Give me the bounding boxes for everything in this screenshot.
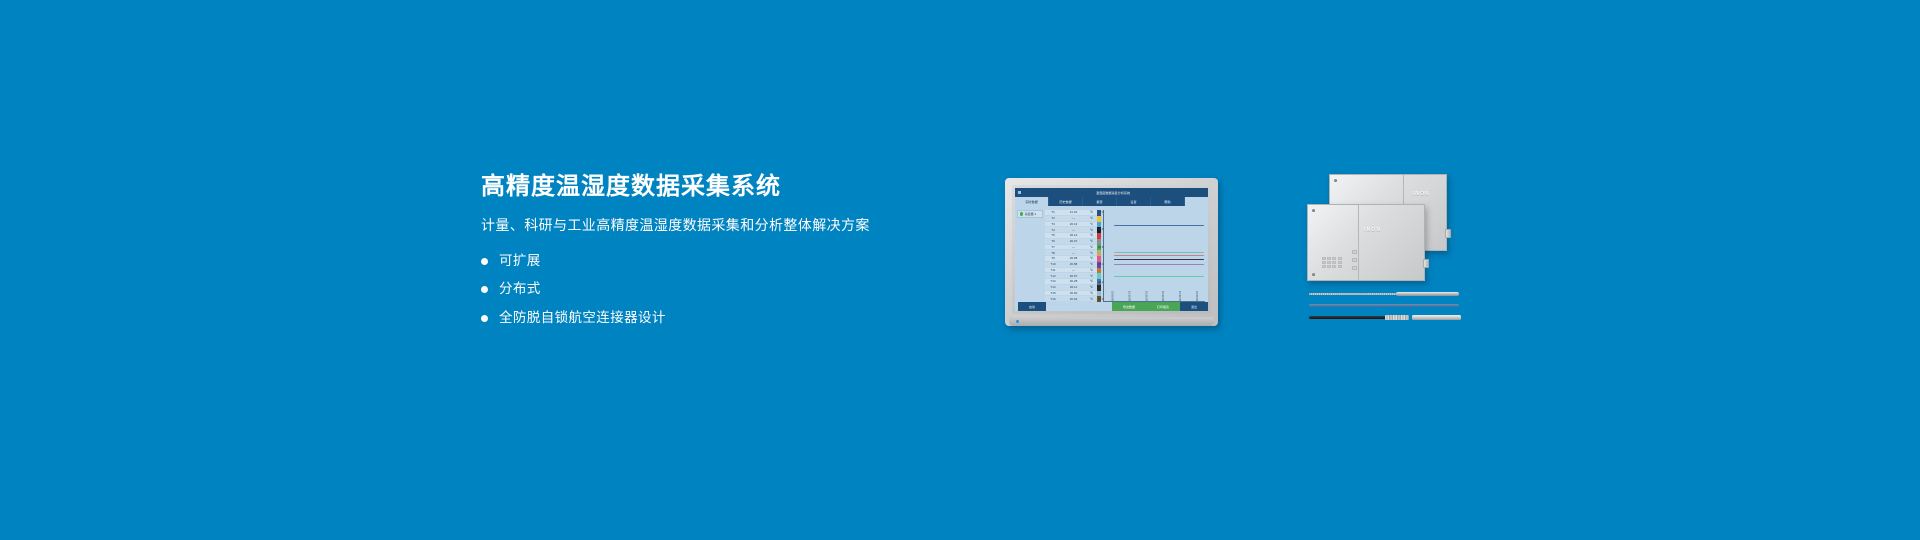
list-item: 全防脱自锁航空连接器设计 — [481, 309, 901, 328]
probe-knurled-connector — [1385, 315, 1409, 320]
screen-footer: 启动 导出数据 打印报表 退出 — [1015, 302, 1208, 311]
exit-button[interactable]: 退出 — [1180, 302, 1208, 311]
start-button[interactable]: 启动 — [1018, 302, 1046, 311]
channel-name: T5 — [1045, 233, 1061, 237]
keypad-cell — [1332, 257, 1336, 260]
status-online-icon — [1020, 212, 1024, 216]
probe-black-cable — [1309, 316, 1388, 319]
channel-value: 26.94 — [1061, 297, 1086, 301]
tab-help[interactable]: 帮助 — [1151, 197, 1185, 206]
tree-node-collector[interactable]: 采集器-1 — [1017, 210, 1043, 218]
channel-name: T3 — [1045, 222, 1061, 226]
terminal-keypad-grid — [1322, 257, 1342, 268]
terminal-block — [1352, 250, 1357, 255]
channel-value: 26.90 — [1061, 291, 1086, 295]
channel-value: 25.97 — [1061, 274, 1086, 278]
tab-history-data[interactable]: 历史数据 — [1049, 197, 1083, 206]
channel-value: --- — [1061, 216, 1086, 220]
x-tick-label: 10:40:00 — [1178, 291, 1181, 301]
terminal-block — [1352, 258, 1357, 263]
keypad-cell — [1332, 261, 1336, 264]
hardware-device-group: INON INON — [1307, 174, 1467, 329]
keypad-cell — [1338, 261, 1342, 264]
screen-body: 采集器-1 T121.01℃T2---℃T326.19℃T4---℃T526.1… — [1015, 206, 1208, 302]
probe-sensor-barrel — [1412, 315, 1461, 320]
channel-value: --- — [1061, 268, 1086, 272]
keypad-cell — [1332, 265, 1336, 268]
tab-label: 实时数据 — [1025, 199, 1037, 204]
page-subtitle: 计量、科研与工业高精度温湿度数据采集和分析整体解决方案 — [481, 216, 901, 236]
channel-name: T6 — [1045, 239, 1061, 243]
trend-chart: 27.026.826.626.426.226.0 10:00:0010:10:0… — [1103, 210, 1206, 302]
banner-text-block: 高精度温湿度数据采集系统 计量、科研与工业高精度温湿度数据采集和分析整体解决方案… — [481, 172, 901, 328]
tab-label: 报表 — [1096, 199, 1102, 204]
channel-name: T9 — [1045, 256, 1061, 260]
terminal-block — [1352, 266, 1357, 271]
channel-name: T12 — [1045, 274, 1061, 278]
brand-label: INON — [1364, 227, 1381, 233]
screw-icon — [1334, 179, 1337, 182]
list-item: 分布式 — [481, 280, 901, 299]
monitor-base — [1009, 317, 1214, 326]
product-banner: 高精度温湿度数据采集系统 计量、科研与工业高精度温湿度数据采集和分析整体解决方案… — [0, 0, 1920, 540]
keypad-cell — [1327, 261, 1331, 264]
feature-list: 可扩展 分布式 全防脱自锁航空连接器设计 — [481, 252, 901, 329]
tree-node-label: 采集器-1 — [1025, 212, 1037, 216]
monitor-bezel: 温湿度数据采集分析系统 实时数据 历史数据 报表 设置 — [1012, 185, 1211, 314]
channel-name: T14 — [1045, 285, 1061, 289]
connector-port — [1423, 259, 1429, 268]
power-led-icon — [1016, 320, 1019, 323]
chart-x-axis: 10:00:0010:10:0010:20:0010:30:0010:40:00… — [1104, 291, 1206, 301]
probe-blue-cable — [1309, 304, 1459, 307]
channel-name: T8 — [1045, 251, 1061, 255]
trend-line-T6 — [1114, 259, 1204, 260]
trend-line-T13 — [1114, 276, 1204, 277]
keypad-cell — [1322, 261, 1326, 264]
bullet-icon — [481, 286, 488, 293]
channel-value: 26.28 — [1061, 279, 1086, 283]
screen-titlebar: 温湿度数据采集分析系统 — [1015, 188, 1208, 197]
braided-steel-probe — [1309, 292, 1459, 296]
black-cable-connector-probe — [1309, 315, 1461, 320]
tab-settings[interactable]: 设置 — [1117, 197, 1151, 206]
channel-name: T16 — [1045, 297, 1061, 301]
channel-value: 21.01 — [1061, 210, 1086, 214]
x-tick-label: 10:30:00 — [1161, 291, 1164, 301]
channel-value: --- — [1061, 251, 1086, 255]
trend-line-T9 — [1114, 264, 1204, 265]
trend-line-T1 — [1114, 225, 1204, 226]
trend-line-T3 — [1114, 252, 1204, 253]
channel-value: --- — [1061, 228, 1086, 232]
tabbar-filler — [1185, 197, 1208, 206]
channel-value: 26.88 — [1061, 262, 1086, 266]
connector-port — [1445, 229, 1451, 238]
monitor-screen: 温湿度数据采集分析系统 实时数据 历史数据 报表 设置 — [1015, 188, 1208, 311]
channel-name: T7 — [1045, 245, 1061, 249]
brand-label: INON — [1413, 191, 1430, 197]
channel-name: T4 — [1045, 228, 1061, 232]
channel-value: 26.98 — [1061, 256, 1086, 260]
tab-label: 历史数据 — [1059, 199, 1071, 204]
probe-steel-tip — [1396, 292, 1459, 296]
list-item: 可扩展 — [481, 252, 901, 271]
monitor-product-image: 温湿度数据采集分析系统 实时数据 历史数据 报表 设置 — [1005, 178, 1218, 326]
tab-label: 帮助 — [1164, 199, 1170, 204]
x-tick-label: 10:00:00 — [1110, 291, 1113, 301]
device-tree-sidebar: 采集器-1 — [1015, 206, 1045, 302]
channel-name: T13 — [1045, 279, 1061, 283]
tab-report[interactable]: 报表 — [1083, 197, 1117, 206]
keypad-cell — [1322, 265, 1326, 268]
chart-y-axis: 27.026.826.626.426.226.0 — [1093, 210, 1104, 301]
screw-icon — [1312, 209, 1315, 212]
channel-name: T1 — [1045, 210, 1061, 214]
channel-value: --- — [1061, 245, 1086, 249]
channel-name: T15 — [1045, 291, 1061, 295]
screen-app-title: 温湿度数据采集分析系统 — [1021, 190, 1205, 195]
channel-value: 26.07 — [1061, 239, 1086, 243]
keypad-cell — [1322, 257, 1326, 260]
keypad-cell — [1338, 265, 1342, 268]
button-label: 导出数据 — [1123, 305, 1135, 309]
channel-name: T11 — [1045, 268, 1061, 272]
tab-realtime-data[interactable]: 实时数据 — [1015, 197, 1049, 206]
channel-value: 26.19 — [1061, 222, 1086, 226]
keypad-cell — [1327, 257, 1331, 260]
print-report-button[interactable]: 打印报表 — [1146, 302, 1180, 311]
panel-seam — [1358, 205, 1359, 280]
button-label: 启动 — [1029, 305, 1035, 309]
data-logger-enclosure-front: INON — [1307, 204, 1425, 281]
bullet-icon — [481, 315, 488, 322]
channel-name: T2 — [1045, 216, 1061, 220]
x-tick-label: 10:10:00 — [1127, 291, 1130, 301]
feature-label: 可扩展 — [499, 252, 541, 271]
keypad-cell — [1327, 265, 1331, 268]
chart-plot-area — [1104, 210, 1206, 291]
channel-table: T121.01℃T2---℃T326.19℃T4---℃T526.12℃T626… — [1045, 206, 1097, 302]
channel-value: 26.11 — [1061, 285, 1086, 289]
blue-cable-probe — [1309, 304, 1459, 307]
page-title: 高精度温湿度数据采集系统 — [481, 172, 901, 202]
footer-spacer — [1046, 302, 1112, 311]
feature-label: 全防脱自锁航空连接器设计 — [499, 309, 666, 328]
trend-line-T5 — [1114, 255, 1204, 256]
screen-tabbar: 实时数据 历史数据 报表 设置 帮助 — [1015, 197, 1208, 206]
x-tick-label: 10:20:00 — [1144, 291, 1147, 301]
button-label: 打印报表 — [1157, 305, 1169, 309]
x-tick-label: 10:50:00 — [1195, 291, 1198, 301]
feature-label: 分布式 — [499, 280, 541, 299]
button-label: 退出 — [1191, 305, 1197, 309]
export-data-button[interactable]: 导出数据 — [1112, 302, 1146, 311]
channel-value: 26.12 — [1061, 233, 1086, 237]
probe-braided-cable — [1309, 293, 1399, 295]
keypad-cell — [1338, 257, 1342, 260]
channel-name: T10 — [1045, 262, 1061, 266]
screw-icon — [1312, 273, 1315, 276]
bullet-icon — [481, 258, 488, 265]
tab-label: 设置 — [1130, 199, 1136, 204]
